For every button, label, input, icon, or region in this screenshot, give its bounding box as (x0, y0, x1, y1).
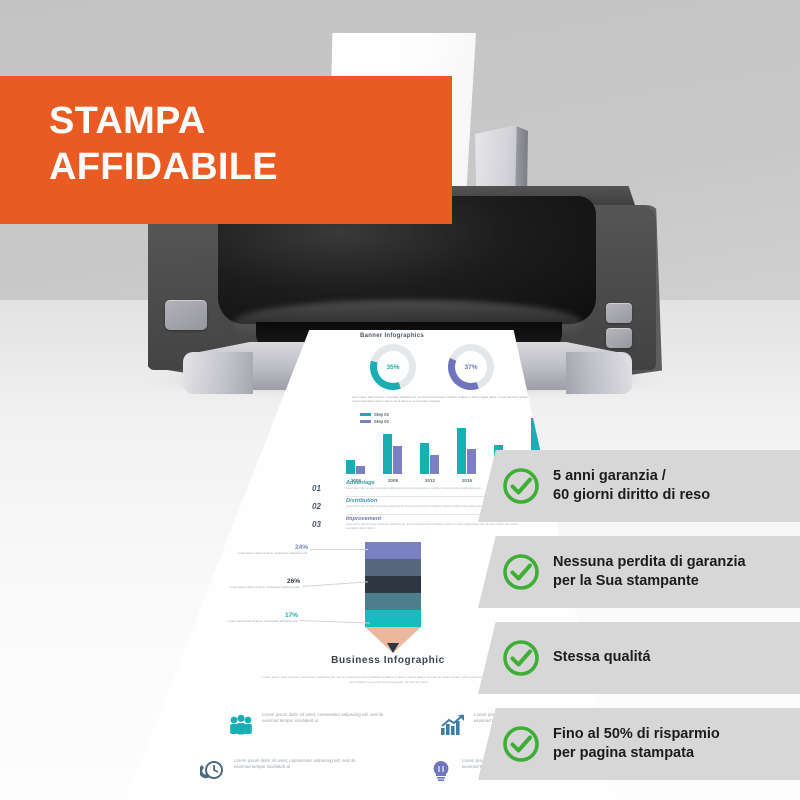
feature-item-1[interactable]: 5 anni garanzia / 60 giorni diritto di r… (478, 450, 800, 522)
poster-canvas: Banner Infographics 35% 37% Lorem ipsum … (0, 0, 800, 800)
headline-text: STAMPA AFFIDABILE (49, 98, 278, 191)
feature-item-2[interactable]: Nessuna perdita di garanzia per la Sua s… (478, 536, 800, 608)
donut-value-1: 35% (386, 364, 399, 371)
check-circle-icon (502, 467, 540, 505)
icon-block-text: Lorem ipsum dolor sit amet, consectetur … (262, 712, 394, 725)
bar-series-2 (393, 446, 402, 474)
check-circle-icon (502, 725, 540, 763)
printer-button-left[interactable] (165, 300, 207, 330)
pencil-funnel-graphic (365, 542, 421, 653)
bar-series-2 (467, 449, 476, 474)
callout-text: Lorem ipsum dolor sit amet, consectetur … (178, 619, 298, 623)
printer-button-right-top[interactable] (606, 303, 632, 323)
growth-chart-icon (440, 714, 466, 736)
pencil-segment (365, 610, 421, 627)
headline-banner: STAMPA AFFIDABILE (0, 76, 452, 224)
pencil-segment (365, 593, 421, 610)
printer-button-right-bottom[interactable] (606, 328, 632, 348)
donut-value-2: 37% (464, 364, 477, 371)
feature-list: 5 anni garanzia / 60 giorni diritto di r… (478, 450, 800, 800)
printer-tray-lip-right (566, 352, 632, 394)
icon-block-text: Lorem ipsum dolor sit amet, consectetur … (234, 758, 366, 771)
donut-chart-1: 35% (370, 344, 416, 390)
donut-hole-1: 35% (377, 351, 409, 383)
printout-intro-paragraph: Lorem ipsum dolor sit amet, consectetur … (352, 396, 534, 404)
check-circle-icon (502, 639, 540, 677)
pencil-lead (387, 643, 399, 653)
bar-series-1 (457, 428, 466, 475)
bar-group: 2006 (346, 412, 370, 474)
people-group-icon (228, 714, 254, 736)
pencil-segment (365, 542, 421, 559)
step-number: 03 (312, 520, 321, 529)
bar-series-1 (420, 443, 429, 474)
feature-label: Nessuna perdita di garanzia per la Sua s… (553, 553, 746, 591)
pencil-segment (365, 576, 421, 593)
callout-leader-line (300, 620, 370, 623)
bar-group: 2012 (420, 412, 444, 474)
feature-label: Fino al 50% di risparmio per pagina stam… (553, 725, 720, 763)
step-number: 01 (312, 484, 321, 493)
feature-item-3[interactable]: Stessa qualitá (478, 622, 800, 694)
pencil-callout: 24% Lorem ipsum dolor sit amet, consecte… (212, 544, 308, 555)
bar-series-2 (356, 466, 365, 474)
step-number: 02 (312, 502, 321, 511)
step-title: Improvement (346, 516, 381, 522)
check-circle-icon (502, 553, 540, 591)
lightbulb-icon (428, 760, 454, 782)
callout-text: Lorem ipsum dolor sit amet, consectetur … (212, 551, 308, 555)
bar-series-2 (430, 455, 439, 474)
callout-value: 24% (212, 544, 308, 551)
donut-hole-2: 37% (455, 351, 487, 383)
step-title: Advantage (346, 480, 375, 486)
feature-item-4[interactable]: Fino al 50% di risparmio per pagina stam… (478, 708, 800, 780)
callout-leader-line (310, 549, 368, 550)
clock-icon (200, 760, 226, 782)
callout-leader-line (302, 581, 368, 586)
printout-banner-title: Banner Infographics (360, 333, 424, 339)
donut-chart-2: 37% (448, 344, 494, 390)
step-title: Distribution (346, 498, 377, 504)
pencil-segment (365, 559, 421, 576)
feature-label: 5 anni garanzia / 60 giorni diritto di r… (553, 467, 710, 505)
feature-label: Stessa qualitá (553, 648, 651, 667)
printer-tray-lip-left (183, 352, 253, 394)
bar-series-1 (383, 434, 392, 474)
bar-series-1 (346, 460, 355, 474)
bar-group: 2009 (383, 412, 407, 474)
